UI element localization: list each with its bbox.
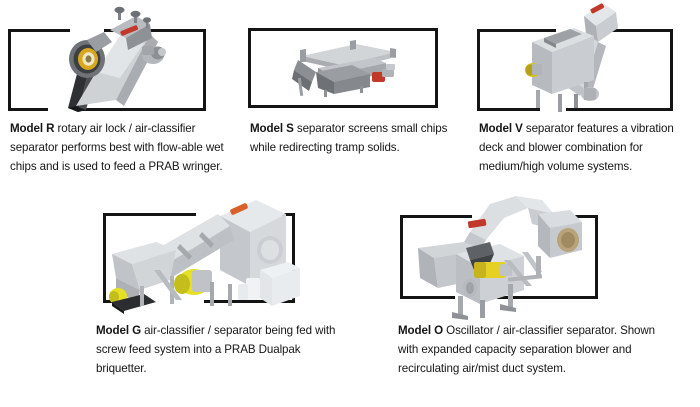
machine-image-model-r (54, 8, 174, 120)
caption-model-v: Model V separator features a vibration d… (479, 120, 693, 176)
model-label-o: Model O (398, 324, 443, 337)
machine-image-model-o (412, 192, 592, 320)
caption-model-s: Model S separator screens small chips wh… (250, 120, 460, 158)
machine-image-model-v (528, 2, 638, 114)
model-label-v: Model V (479, 122, 523, 135)
machine-image-model-s (290, 38, 402, 100)
brochure-page: Model R rotary air lock / air-classifier… (0, 0, 700, 407)
caption-model-o: Model O Oscillator / air-classifier sepa… (398, 322, 656, 378)
machine-image-model-g (110, 170, 300, 315)
model-label-g: Model G (96, 324, 141, 337)
model-label-r: Model R (10, 122, 54, 135)
caption-model-r: Model R rotary air lock / air-classifier… (10, 120, 225, 176)
model-label-s: Model S (250, 122, 294, 135)
caption-model-g: Model G air-classifier / separator being… (96, 322, 346, 378)
